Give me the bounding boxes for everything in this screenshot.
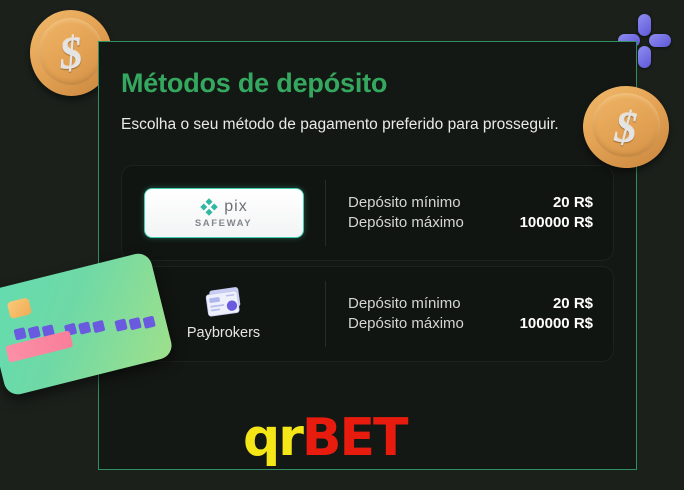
pix-safeway-label: SAFEWAY [195,218,252,229]
max-deposit-value: 100000 R$ [520,315,593,332]
pix-wordmark-group: pix [199,197,247,217]
card-stripe [5,330,73,362]
min-deposit-line: Depósito mínimo 20 R$ [348,194,593,211]
card-digit-block [42,324,55,337]
card-digit-block [28,326,41,339]
min-deposit-line: Depósito mínimo 20 R$ [348,295,593,312]
card-digit-block [78,321,91,334]
max-deposit-line: Depósito máximo 100000 R$ [348,315,593,332]
plus-petal-right [649,34,671,47]
page-title: Métodos de depósito [121,68,614,99]
card-digit-block [64,323,77,336]
card-chip-icon [7,297,32,319]
panel-content: Métodos de depósito Escolha o seu método… [99,42,636,362]
paybrokers-label: Paybrokers [187,325,260,341]
payment-method-row-paybrokers[interactable]: Paybrokers Depósito mínimo 20 R$ Depósit… [121,266,614,362]
paybrokers-limits: Depósito mínimo 20 R$ Depósito máximo 10… [326,292,613,335]
max-deposit-label: Depósito máximo [348,214,464,231]
pix-safeway-logo-button[interactable]: pix SAFEWAY [144,188,304,238]
payment-method-row-pix[interactable]: pix SAFEWAY Depósito mínimo 20 R$ Depósi… [121,165,614,261]
plus-petal-top [638,14,651,36]
min-deposit-value: 20 R$ [553,194,593,211]
pix-diamond-icon [199,197,219,217]
page-subtitle: Escolha o seu método de pagamento prefer… [121,113,566,137]
max-deposit-label: Depósito máximo [348,315,464,332]
min-deposit-value: 20 R$ [553,295,593,312]
watermark-bet: BET [302,408,407,468]
watermark-qr: qr [243,408,302,468]
credit-card-icon [203,287,245,319]
min-deposit-label: Depósito mínimo [348,194,461,211]
max-deposit-value: 100000 R$ [520,214,593,231]
payment-methods-list: pix SAFEWAY Depósito mínimo 20 R$ Depósi… [121,165,614,362]
card-digit-block [13,327,26,340]
dollar-sign-icon: $ [57,26,85,80]
min-deposit-label: Depósito mínimo [348,295,461,312]
deposit-methods-panel: Métodos de depósito Escolha o seu método… [98,41,637,470]
qrbet-watermark: qrBET [243,412,407,464]
pix-logo-cell[interactable]: pix SAFEWAY [122,188,325,238]
paybrokers-logo-cell[interactable]: Paybrokers [122,287,325,341]
max-deposit-line: Depósito máximo 100000 R$ [348,214,593,231]
pix-wordmark: pix [224,198,247,216]
plus-petal-bottom [638,46,651,68]
pix-limits: Depósito mínimo 20 R$ Depósito máximo 10… [326,191,613,234]
